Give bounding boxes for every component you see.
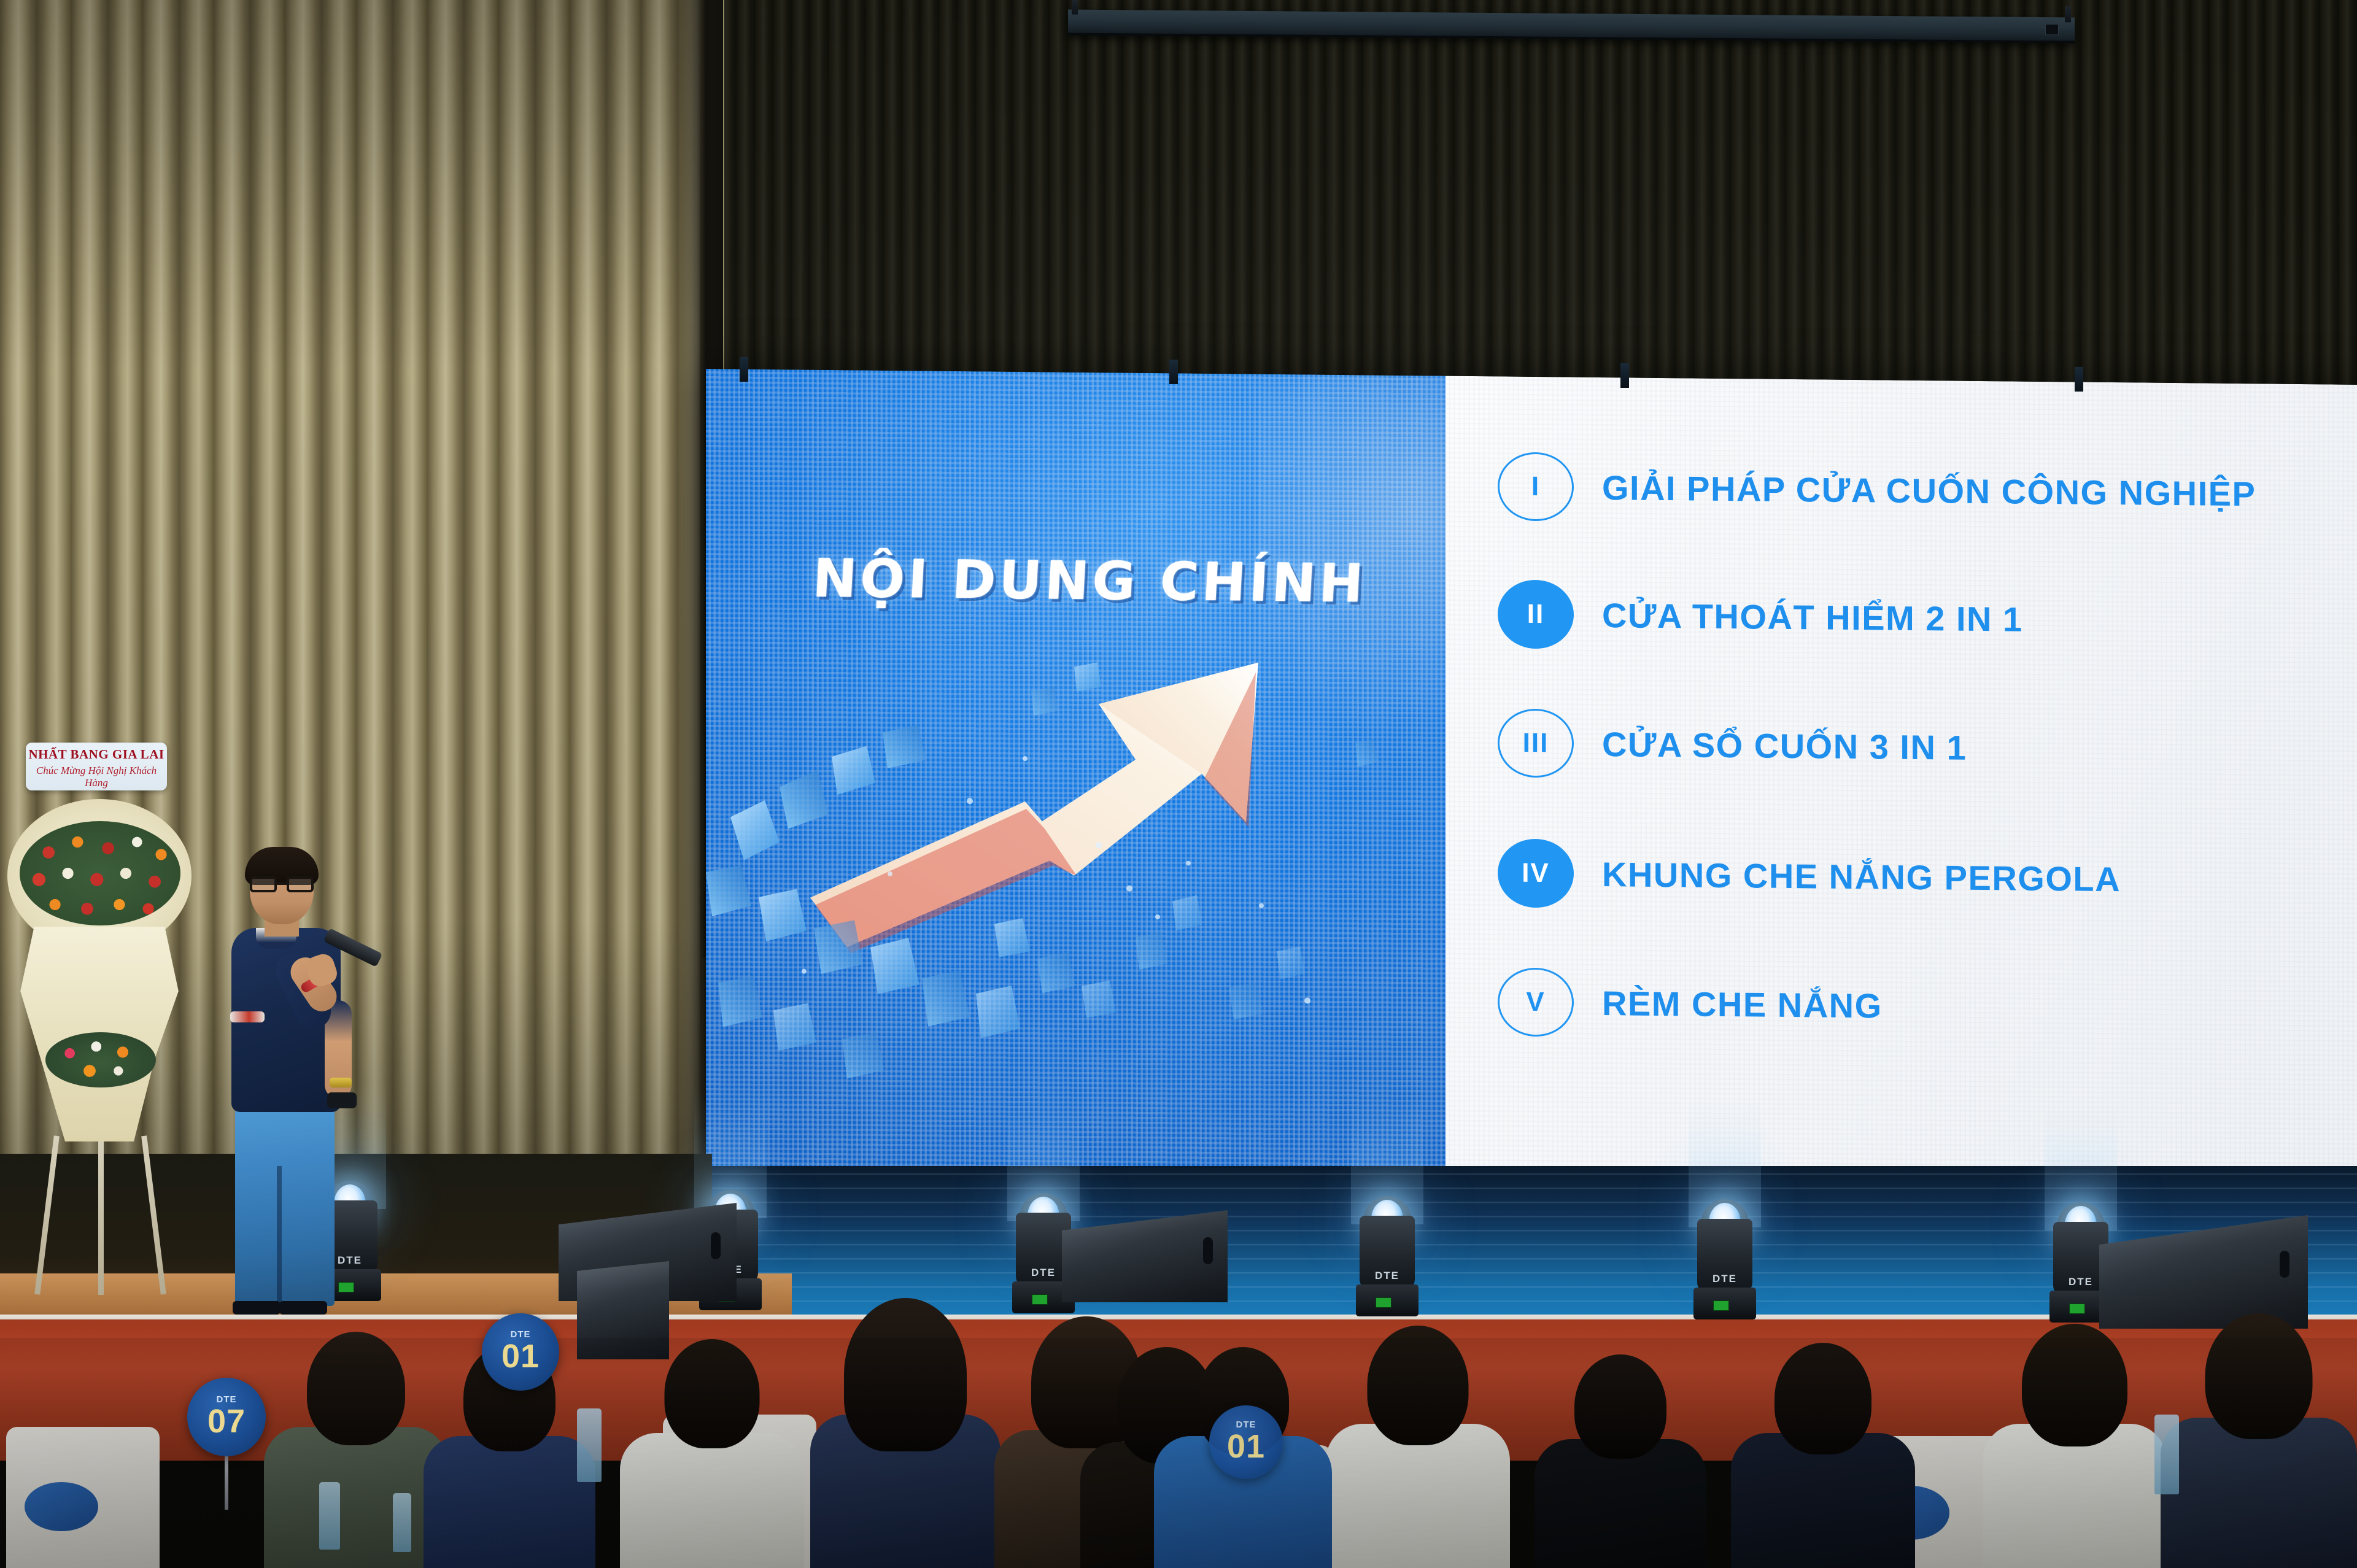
audience-body-12 bbox=[2161, 1418, 2357, 1568]
light-display-4 bbox=[1376, 1297, 1391, 1308]
agenda-item-3[interactable]: III CỬA SỔ CUỐN 3 IN 1 bbox=[1498, 703, 1967, 787]
light-display-3 bbox=[1032, 1294, 1048, 1305]
audience-head-3 bbox=[665, 1339, 760, 1448]
agenda-marker-1: I bbox=[1498, 452, 1574, 521]
audience-head-9 bbox=[1574, 1354, 1666, 1459]
agenda-marker-2: II bbox=[1498, 579, 1574, 649]
truss-junction-box bbox=[2045, 24, 2059, 35]
light-display-5 bbox=[1713, 1300, 1729, 1311]
table-badge-number-01: 01 bbox=[501, 1337, 540, 1375]
agenda-item-5[interactable]: V RÈM CHE NẮNG bbox=[1498, 962, 1883, 1045]
water-bottle-4 bbox=[2154, 1415, 2179, 1494]
glasses-bridge bbox=[277, 882, 287, 885]
moving-head-light-5: DTE bbox=[1691, 1191, 1759, 1319]
audience-member-4 bbox=[810, 1338, 1000, 1568]
agenda-label-2: CỬA THOÁT HIỂM 2 IN 1 bbox=[1602, 595, 2023, 639]
flower-bouquet-bottom bbox=[45, 1032, 156, 1087]
table-number-badge-01: DTE 01 bbox=[482, 1313, 559, 1391]
presenter-shoe-left bbox=[233, 1301, 281, 1315]
light-brand-label-4: DTE bbox=[1353, 1270, 1421, 1282]
water-bottle-2 bbox=[393, 1493, 411, 1552]
presenter-clicker bbox=[327, 1092, 357, 1108]
screen-bracket-far-right bbox=[2075, 367, 2083, 392]
water-bottle-1 bbox=[319, 1482, 340, 1550]
agenda-label-3: CỬA SỔ CUỐN 3 IN 1 bbox=[1602, 724, 1967, 768]
glasses-icon bbox=[249, 876, 315, 892]
light-display-6 bbox=[2069, 1303, 2085, 1314]
audience-head-7 bbox=[1368, 1326, 1469, 1445]
light-brand-label-5: DTE bbox=[1691, 1273, 1759, 1285]
table-number-badge-extra: DTE 01 bbox=[1209, 1405, 1283, 1479]
audience-member-11 bbox=[1983, 1350, 2167, 1568]
table-number-badge-07: DTE 07 bbox=[187, 1378, 266, 1456]
audience-head-10 bbox=[1775, 1343, 1871, 1454]
audience-head-1 bbox=[307, 1332, 405, 1445]
screen-bracket-mid bbox=[1169, 360, 1178, 384]
audience-member-12 bbox=[2161, 1341, 2357, 1568]
flower-stand-leg-center bbox=[98, 1135, 104, 1295]
banner-company-name: NHẤT BANG GIA LAI bbox=[26, 747, 167, 762]
flower-bouquet-top bbox=[20, 821, 180, 925]
slide-title: NỘI DUNG CHÍNH bbox=[747, 547, 1431, 616]
presenter-shoe-right bbox=[279, 1301, 327, 1315]
agenda-item-1[interactable]: I GIẢI PHÁP CỬA CUỐN CÔNG NGHIỆP bbox=[1498, 446, 2256, 533]
screen-bracket-left bbox=[740, 357, 748, 382]
agenda-marker-3: III bbox=[1498, 708, 1574, 778]
arrow-breaking-glass-icon bbox=[706, 553, 1446, 1174]
table-badge-number-07: 07 bbox=[207, 1402, 246, 1440]
audience-head-12 bbox=[2205, 1313, 2313, 1439]
truss-hanger-left bbox=[1072, 0, 1078, 15]
agenda-item-4[interactable]: IV KHUNG CHE NẮNG PERGOLA bbox=[1498, 833, 2121, 919]
presenter-person bbox=[218, 847, 359, 1313]
audience-member-2 bbox=[424, 1365, 595, 1568]
table-badge-number-extra: 01 bbox=[1227, 1427, 1265, 1466]
agenda-marker-5: V bbox=[1498, 967, 1574, 1037]
audience-body-7 bbox=[1326, 1424, 1510, 1568]
presenter-leg-gap bbox=[277, 1166, 282, 1307]
audience-area bbox=[0, 1338, 2357, 1568]
glasses-lens-right bbox=[287, 876, 314, 892]
presenter-jeans bbox=[235, 1105, 335, 1306]
audience-head-4 bbox=[844, 1298, 967, 1451]
screen-bracket-right bbox=[1620, 363, 1629, 388]
audience-body-2 bbox=[424, 1436, 595, 1568]
agenda-label-4: KHUNG CHE NẮNG PERGOLA bbox=[1602, 854, 2121, 899]
audience-member-7 bbox=[1326, 1347, 1510, 1568]
monitor-handle-3 bbox=[2280, 1251, 2289, 1278]
flower-stand-leg-left bbox=[34, 1135, 60, 1294]
flower-stand-leg-right bbox=[141, 1135, 166, 1294]
monitor-handle-1 bbox=[711, 1232, 721, 1259]
audience-member-9 bbox=[1535, 1384, 1706, 1568]
audience-head-11 bbox=[2022, 1324, 2127, 1446]
audience-member-1 bbox=[264, 1356, 448, 1568]
moving-head-light-4: DTE bbox=[1353, 1188, 1421, 1316]
congratulatory-flower-stand: NHẤT BANG GIA LAI Chúc Mừng Hội Nghị Khá… bbox=[0, 743, 203, 1301]
agenda-label-1: GIẢI PHÁP CỬA CUỐN CÔNG NGHIỆP bbox=[1602, 468, 2256, 514]
truss-hanger-right bbox=[2065, 6, 2071, 22]
conference-stage-scene: NỘI DUNG CHÍNH I GIẢI PHÁP CỬA CUỐN CÔNG… bbox=[0, 0, 2357, 1568]
agenda-list: I GIẢI PHÁP CỬA CUỐN CÔNG NGHIỆP II CỬA … bbox=[1498, 420, 2357, 1159]
audience-member-3 bbox=[620, 1359, 804, 1568]
agenda-item-2[interactable]: II CỬA THOÁT HIỂM 2 IN 1 bbox=[1498, 574, 2023, 658]
audience-body-1 bbox=[264, 1427, 448, 1568]
audience-member-10 bbox=[1731, 1372, 1915, 1568]
monitor-handle-2 bbox=[1203, 1237, 1213, 1264]
chair-bow-1 bbox=[25, 1482, 98, 1531]
water-bottle-3 bbox=[577, 1408, 602, 1482]
audience-body-3 bbox=[620, 1433, 804, 1568]
agenda-marker-4: IV bbox=[1498, 838, 1574, 908]
glasses-lens-left bbox=[250, 876, 277, 892]
led-presentation-screen: NỘI DUNG CHÍNH I GIẢI PHÁP CỬA CUỐN CÔNG… bbox=[706, 369, 2357, 1183]
agenda-label-5: RÈM CHE NẮNG bbox=[1602, 983, 1883, 1025]
presenter-wristwatch bbox=[330, 1078, 352, 1087]
presenter-sleeve-cuff bbox=[230, 1011, 265, 1022]
flower-stand-banner: NHẤT BANG GIA LAI Chúc Mừng Hội Nghị Khá… bbox=[26, 743, 167, 790]
banner-greeting: Chúc Mừng Hội Nghị Khách Hàng bbox=[26, 765, 167, 789]
